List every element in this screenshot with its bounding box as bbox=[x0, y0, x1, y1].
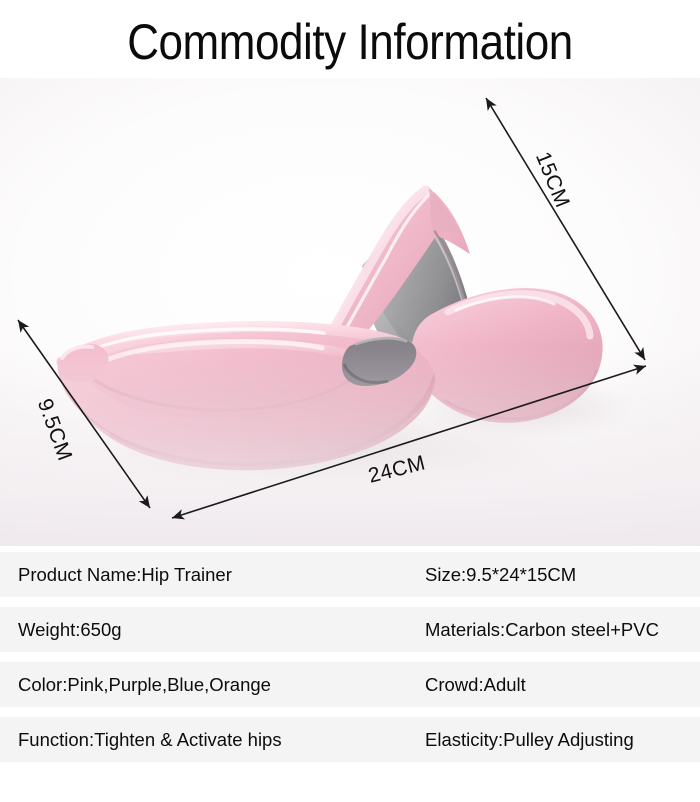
spec-function: Function:Tighten & Activate hips bbox=[18, 717, 282, 762]
spec-size: Size:9.5*24*15CM bbox=[425, 552, 576, 597]
arm-tip-inner bbox=[429, 188, 460, 236]
spec-elasticity: Elasticity:Pulley Adjusting bbox=[425, 717, 634, 762]
spec-materials: Materials:Carbon steel+PVC bbox=[425, 607, 659, 652]
product-photo bbox=[0, 78, 700, 546]
table-row: Color:Pink,Purple,Blue,Orange Crowd:Adul… bbox=[0, 662, 700, 707]
table-row: Product Name:Hip Trainer Size:9.5*24*15C… bbox=[0, 552, 700, 597]
specification-table: Product Name:Hip Trainer Size:9.5*24*15C… bbox=[0, 552, 700, 772]
spec-product-name: Product Name:Hip Trainer bbox=[18, 552, 232, 597]
spec-color: Color:Pink,Purple,Blue,Orange bbox=[18, 662, 271, 707]
spec-weight: Weight:650g bbox=[18, 607, 122, 652]
spec-crowd: Crowd:Adult bbox=[425, 662, 526, 707]
hip-trainer-illustration bbox=[0, 78, 700, 546]
commodity-information-page: Commodity Information bbox=[0, 0, 700, 802]
page-title: Commodity Information bbox=[42, 12, 658, 72]
table-row: Weight:650g Materials:Carbon steel+PVC bbox=[0, 607, 700, 652]
table-row: Function:Tighten & Activate hips Elastic… bbox=[0, 717, 700, 762]
